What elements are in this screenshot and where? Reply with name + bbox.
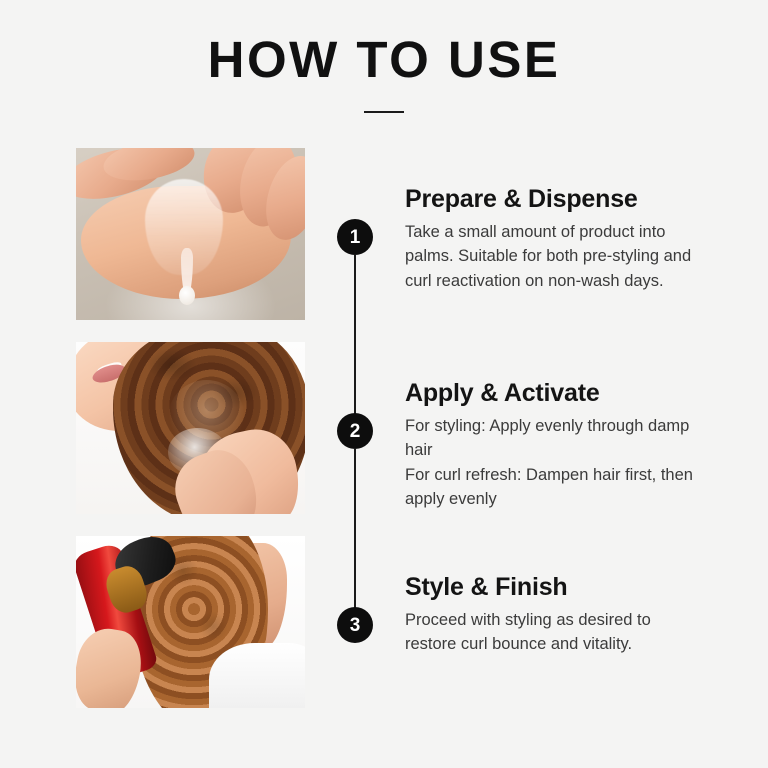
step-2-image <box>76 342 305 514</box>
curling-iron-styling-hair-photo <box>76 536 305 708</box>
applying-product-to-curly-hair-photo <box>76 342 305 514</box>
step-3-body: Proceed with styling as desired to resto… <box>405 608 705 657</box>
step-3-heading: Style & Finish <box>405 573 705 601</box>
page-title: HOW TO USE <box>0 34 768 85</box>
hands-dispensing-serum-photo <box>76 148 305 320</box>
step-number-badge-2: 2 <box>337 413 373 449</box>
step-2-heading: Apply & Activate <box>405 379 705 407</box>
timeline-segment-1-2 <box>354 255 356 415</box>
step-2-text: Apply & Activate For styling: Apply even… <box>405 379 705 512</box>
gel-droplet-shape <box>179 286 195 305</box>
step-1-heading: Prepare & Dispense <box>405 185 705 213</box>
step-number-badge-1: 1 <box>337 219 373 255</box>
step-3-image <box>76 536 305 708</box>
title-divider <box>364 111 404 113</box>
step-1-text: Prepare & Dispense Take a small amount o… <box>405 185 705 293</box>
step-1-body: Take a small amount of product into palm… <box>405 220 705 293</box>
step-3-text: Style & Finish Proceed with styling as d… <box>405 573 705 657</box>
steps-section: 1 Prepare & Dispense Take a small amount… <box>0 148 768 728</box>
page-header: HOW TO USE <box>0 0 768 113</box>
step-number-badge-3: 3 <box>337 607 373 643</box>
timeline-segment-2-3 <box>354 449 356 609</box>
step-1-image <box>76 148 305 320</box>
shoulder-shape <box>209 643 305 708</box>
step-2-body: For styling: Apply evenly through damp h… <box>405 414 705 512</box>
